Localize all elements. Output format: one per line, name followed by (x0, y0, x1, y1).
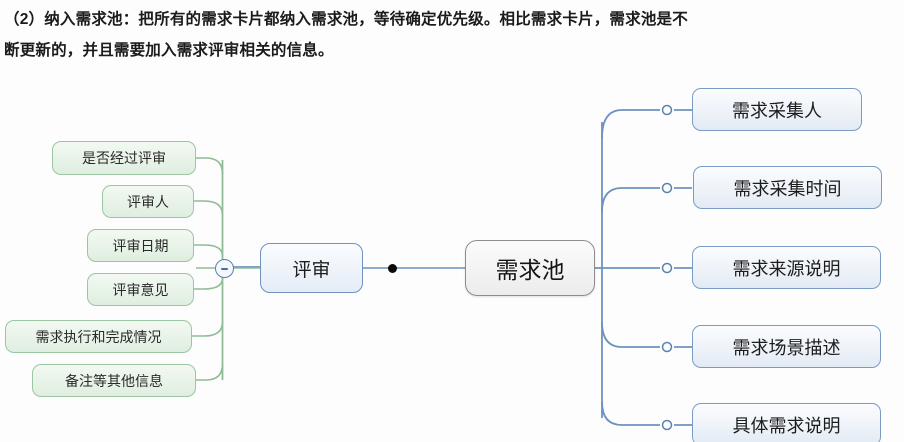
node-right-4[interactable]: 需求场景描述 (692, 325, 881, 368)
node-subroot-review[interactable]: 评审 (260, 243, 363, 293)
node-label: 需求场景描述 (733, 334, 841, 360)
node-right-2[interactable]: 需求采集时间 (693, 166, 882, 209)
node-label: 需求采集人 (732, 97, 822, 123)
node-label: 需求执行和完成情况 (36, 327, 162, 347)
node-left-5[interactable]: 需求执行和完成情况 (5, 320, 192, 353)
node-label: 评审日期 (113, 236, 169, 256)
node-left-6[interactable]: 备注等其他信息 (32, 364, 196, 397)
node-label: 评审 (292, 255, 330, 282)
junction-dot (388, 264, 397, 273)
node-right-3[interactable]: 需求来源说明 (692, 246, 881, 289)
node-label: 需求采集时间 (734, 175, 842, 201)
minus-bar (221, 268, 228, 270)
mindmap-canvas: （2）纳入需求池：把所有的需求卡片都纳入需求池，等待确定优先级。相比需求卡片，需… (0, 0, 904, 442)
minus-circle-icon[interactable] (215, 259, 234, 278)
node-left-3[interactable]: 评审日期 (87, 229, 194, 262)
node-left-4[interactable]: 评审意见 (87, 273, 194, 306)
node-right-1[interactable]: 需求采集人 (692, 88, 862, 131)
node-label: 需求池 (496, 251, 565, 285)
node-right-5[interactable]: 具体需求说明 (692, 403, 881, 442)
node-label: 评审意见 (113, 280, 169, 300)
node-label: 具体需求说明 (733, 412, 841, 438)
node-label: 评审人 (127, 192, 169, 212)
node-left-2[interactable]: 评审人 (102, 185, 194, 218)
node-label: 需求来源说明 (733, 255, 841, 281)
node-label: 是否经过评审 (82, 148, 166, 168)
node-root-requirement-pool[interactable]: 需求池 (465, 240, 595, 296)
node-label: 备注等其他信息 (65, 371, 163, 391)
node-left-1[interactable]: 是否经过评审 (52, 141, 196, 175)
